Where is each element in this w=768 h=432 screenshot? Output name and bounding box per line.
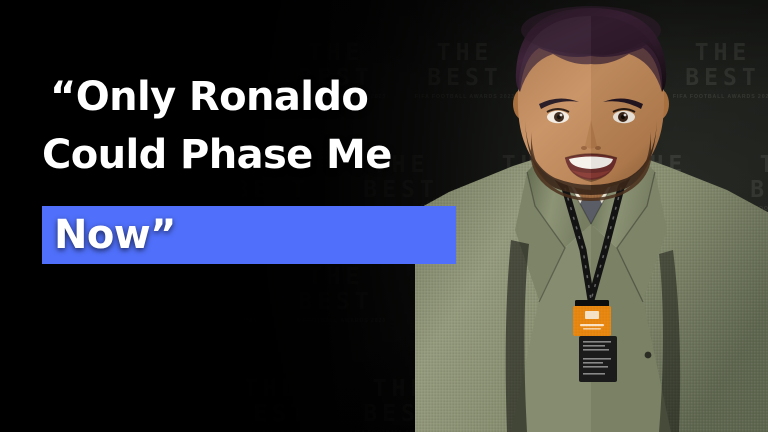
headline-line-2: Could Phase Me xyxy=(42,126,472,184)
subject-person xyxy=(415,0,768,432)
headline-line-1: “Only Ronaldo xyxy=(50,68,472,126)
video-thumbnail: THEBESTFIFA FOOTBALL AWARDS 2023THEBESTF… xyxy=(0,0,768,432)
headline-line-3: Now” xyxy=(42,206,176,264)
headline-text-block: “Only Ronaldo Could Phase Me xyxy=(42,68,472,184)
headline-line-3-wrapper: Now” xyxy=(42,206,456,264)
